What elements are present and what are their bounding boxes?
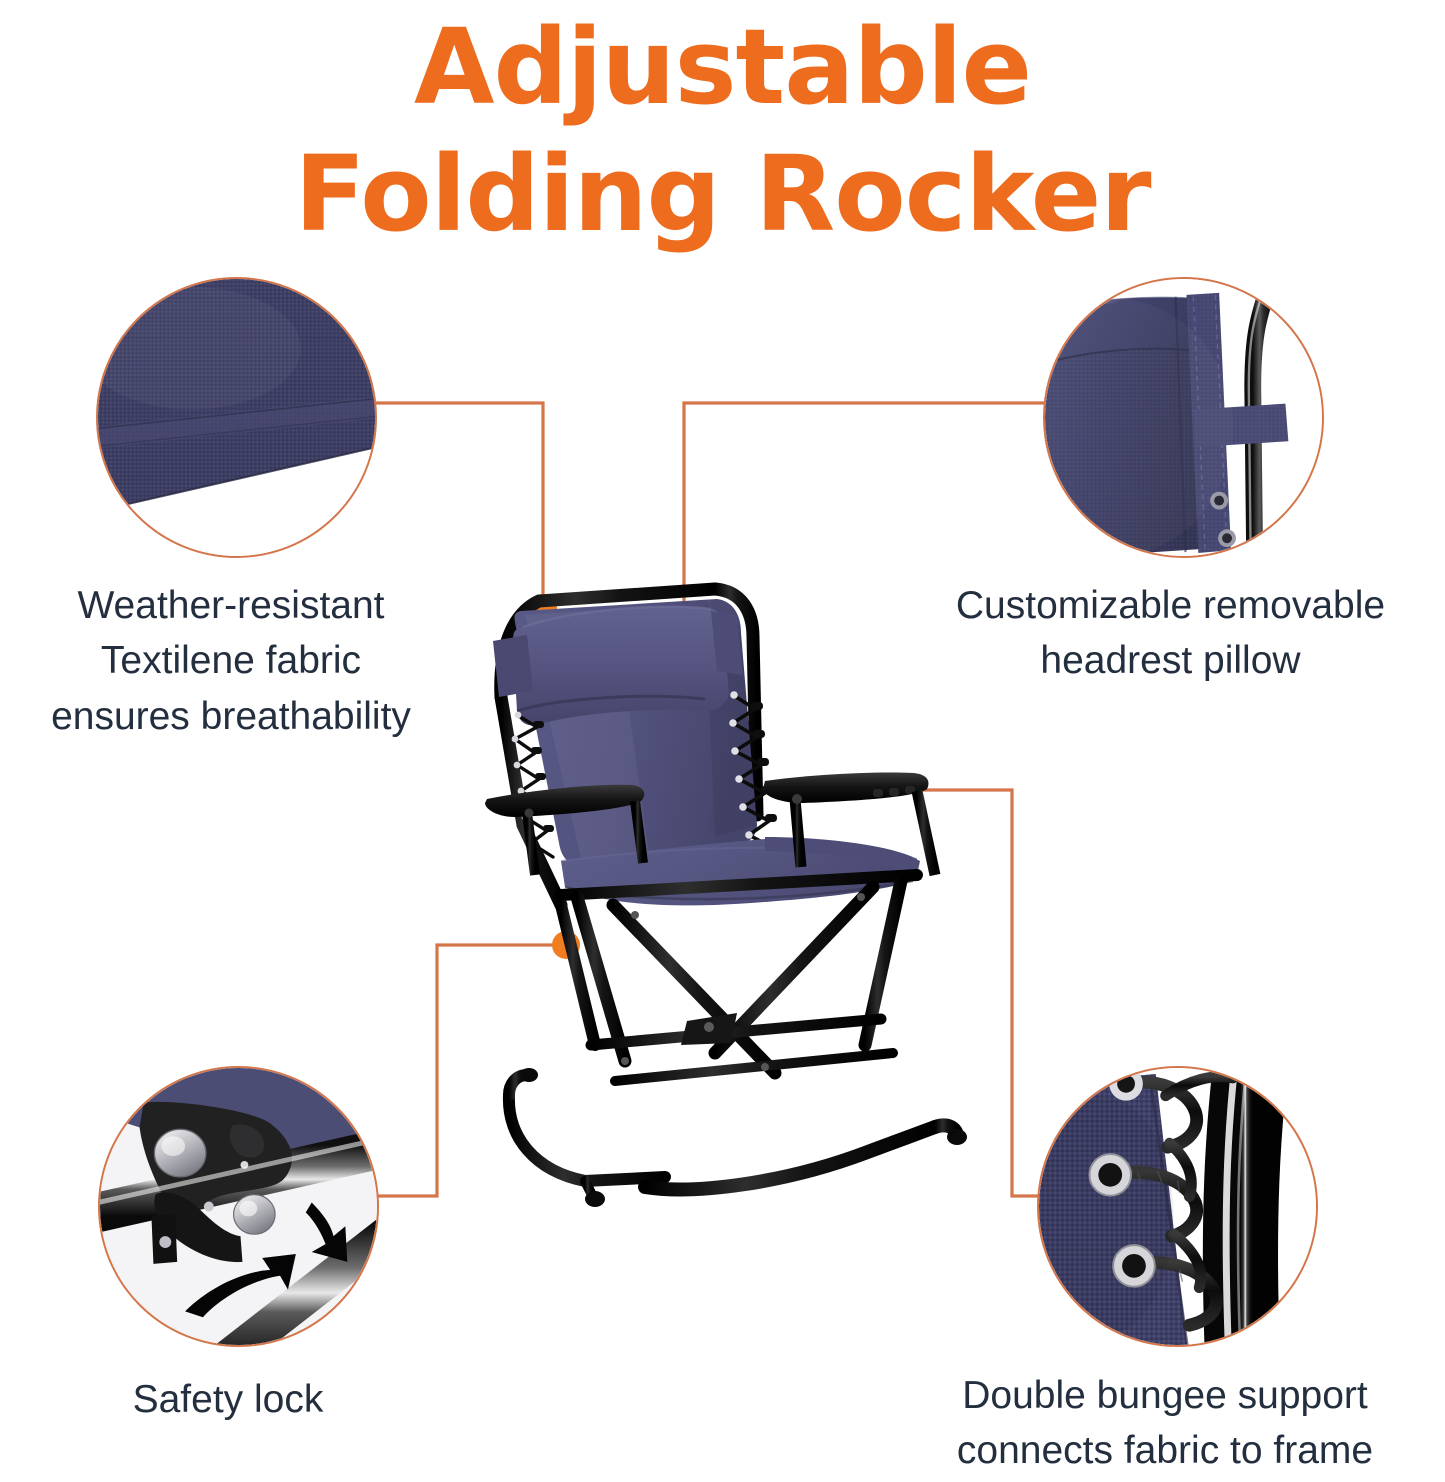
callout-circle-weather-resistant-fabric — [96, 277, 377, 558]
callout-circle-safety-lock — [98, 1066, 379, 1347]
callout-circle-double-bungee-support — [1037, 1066, 1318, 1347]
caption-weather-resistant-fabric: Weather-resistant Textilene fabric ensur… — [0, 578, 476, 744]
callout-circle-headrest-pillow — [1043, 277, 1324, 558]
title-line-2: Folding Rocker — [0, 131, 1445, 258]
caption-double-bungee-support: Double bungee support connects fabric to… — [880, 1368, 1445, 1479]
title-line-1: Adjustable — [414, 6, 1031, 128]
caption-headrest-pillow: Customizable removable headrest pillow — [888, 578, 1445, 689]
infographic-canvas: Adjustable Folding Rocker — [0, 0, 1445, 1482]
connector-weather-resistant-fabric — [366, 403, 543, 603]
page-title: Adjustable Folding Rocker — [0, 4, 1445, 258]
caption-safety-lock: Safety lock — [18, 1372, 438, 1427]
